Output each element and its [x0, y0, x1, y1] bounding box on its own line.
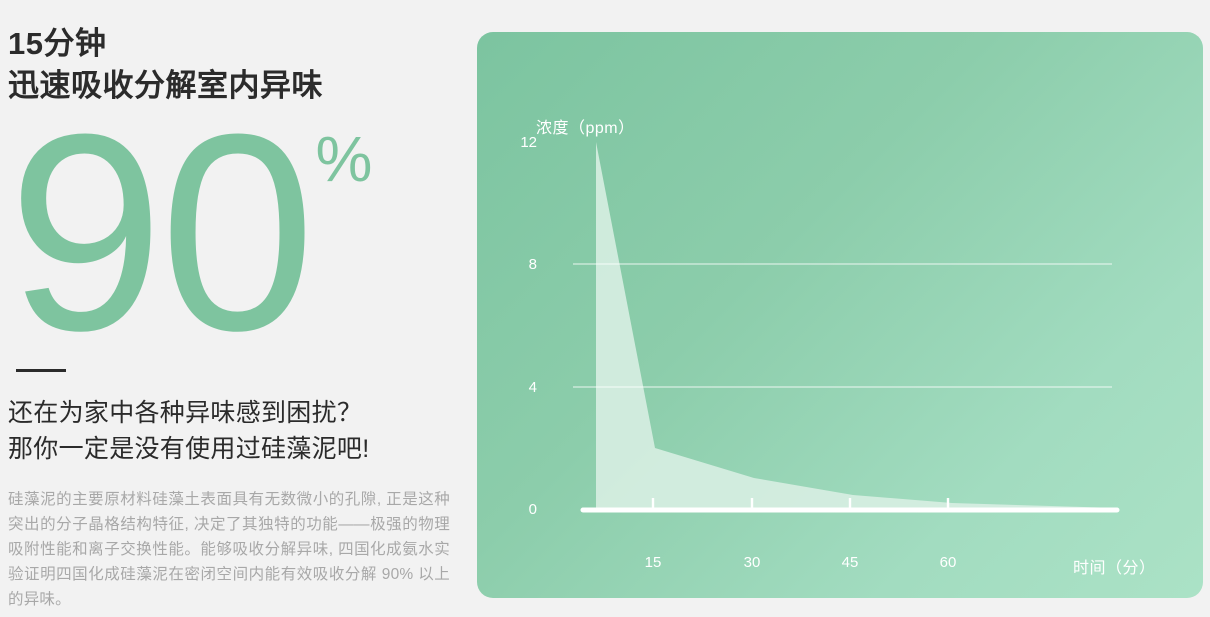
x-axis-title: 时间（分） [1073, 554, 1156, 578]
body-paragraph: 硅藻泥的主要原材料硅藻土表面具有无数微小的孔隙, 正是这种突出的分子晶格结构特征… [8, 487, 450, 612]
y-tick-label-12: 12 [507, 134, 537, 151]
x-tick-label-60: 60 [928, 554, 968, 571]
headline-line-1: 15分钟 [8, 24, 468, 64]
section-divider [16, 369, 66, 372]
statistic-number: 90 [8, 108, 311, 358]
chart-area-fill [596, 142, 1117, 509]
subheading-line-2: 那你一定是没有使用过硅藻泥吧! [8, 431, 468, 467]
x-tick-label-45: 45 [830, 554, 870, 571]
subheading-line-1: 还在为家中各种异味感到困扰？ [8, 395, 468, 431]
infographic-page: 15分钟 迅速吸收分解室内异味 90% 还在为家中各种异味感到困扰？ 那你一定是… [0, 0, 1210, 617]
chart-panel: 浓度（ppm） 12 8 4 0 15 30 45 60 时间（分） [477, 32, 1203, 598]
y-tick-label-8: 8 [507, 256, 537, 273]
y-tick-label-4: 4 [507, 379, 537, 396]
x-tick-label-15: 15 [633, 554, 673, 571]
percent-symbol: % [315, 122, 372, 196]
y-tick-label-0: 0 [507, 501, 537, 518]
left-content-column: 15分钟 迅速吸收分解室内异味 90% 还在为家中各种异味感到困扰？ 那你一定是… [8, 0, 468, 617]
y-axis-title: 浓度（ppm） [536, 114, 635, 138]
subheading-block: 还在为家中各种异味感到困扰？ 那你一定是没有使用过硅藻泥吧! [8, 395, 468, 467]
x-tick-label-30: 30 [732, 554, 772, 571]
statistic-block: 90% [8, 108, 428, 358]
body-paragraph-block: 硅藻泥的主要原材料硅藻土表面具有无数微小的孔隙, 正是这种突出的分子晶格结构特征… [8, 487, 450, 612]
